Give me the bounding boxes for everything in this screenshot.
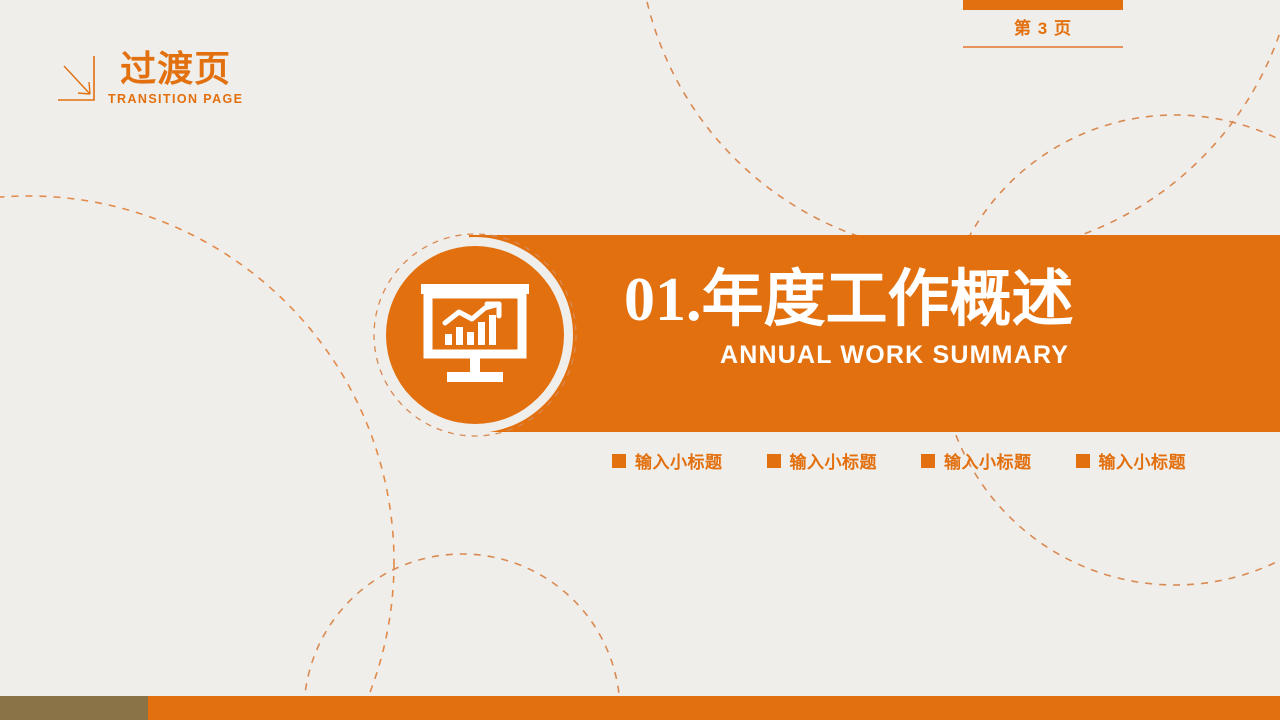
subtitle-chip-label: 输入小标题: [635, 448, 723, 473]
transition-brand: 过渡页 TRANSITION PAGE: [56, 48, 243, 107]
square-bullet-icon: [612, 454, 626, 468]
section-title: 01.年度工作概述: [624, 262, 1224, 338]
page-indicator-bar: [963, 0, 1123, 10]
footer-bar-olive-segment: [0, 696, 148, 720]
section-banner-text: 01.年度工作概述 ANNUAL WORK SUMMARY: [624, 262, 1224, 370]
subtitle-chip[interactable]: 输入小标题: [921, 448, 1032, 473]
page-indicator-label: 第 3 页: [963, 10, 1123, 44]
page-indicator-rule: [963, 46, 1123, 48]
section-subtitle: ANNUAL WORK SUMMARY: [720, 340, 1224, 370]
down-right-arrow-icon: [56, 54, 102, 106]
page-indicator: 第 3 页: [963, 0, 1123, 48]
footer-bar: [0, 696, 1280, 720]
footer-bar-orange-segment: [148, 696, 1280, 720]
presentation-chart-icon: [419, 282, 531, 388]
subtitle-chip[interactable]: 输入小标题: [1076, 448, 1187, 473]
subtitle-chip[interactable]: 输入小标题: [767, 448, 878, 473]
section-icon-badge: [372, 232, 578, 438]
brand-title-cn: 过渡页: [120, 48, 231, 90]
slide-canvas: 过渡页 TRANSITION PAGE 第 3 页 01.年度工作概述 ANNU…: [0, 0, 1280, 720]
section-title-cn: 年度工作概述: [702, 265, 1074, 334]
subtitle-chip-label: 输入小标题: [790, 448, 878, 473]
subtitle-chip-label: 输入小标题: [1099, 448, 1187, 473]
subtitle-chip[interactable]: 输入小标题: [612, 448, 723, 473]
dashed-circle-top-right: [638, 0, 1280, 255]
square-bullet-icon: [921, 454, 935, 468]
brand-title-en: TRANSITION PAGE: [108, 91, 243, 107]
subtitle-chip-label: 输入小标题: [944, 448, 1032, 473]
subtitle-chip-list: 输入小标题 输入小标题 输入小标题 输入小标题: [612, 448, 1186, 473]
square-bullet-icon: [1076, 454, 1090, 468]
square-bullet-icon: [767, 454, 781, 468]
dashed-circle-left: [0, 196, 394, 720]
section-number: 01.: [624, 266, 702, 334]
